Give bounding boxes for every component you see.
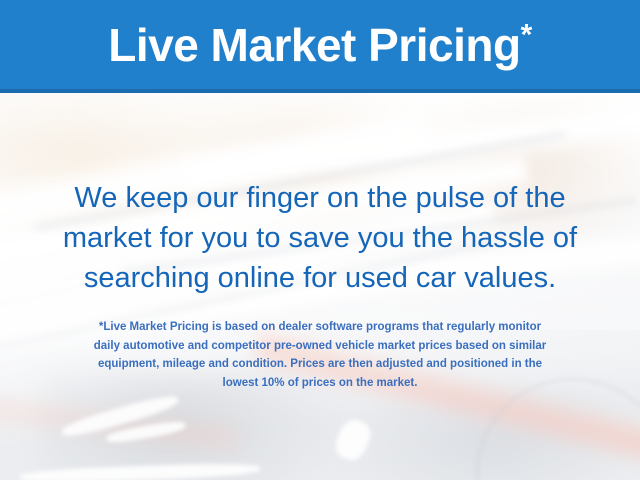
disclaimer-line-4: lowest 10% of prices on the market.	[26, 374, 614, 393]
headline-line-1: We keep our finger on the pulse of the	[24, 178, 616, 218]
page-title-text: Live Market Pricing	[108, 19, 520, 71]
header-banner: Live Market Pricing*	[0, 0, 640, 93]
live-market-pricing-slide: Live Market Pricing* We keep our finger …	[0, 0, 640, 480]
headline-line-3: searching online for used car values.	[24, 258, 616, 298]
disclaimer-text: *Live Market Pricing is based on dealer …	[0, 318, 640, 392]
disclaimer-line-3: equipment, mileage and condition. Prices…	[26, 355, 614, 374]
page-title: Live Market Pricing*	[108, 22, 532, 68]
headline: We keep our finger on the pulse of the m…	[0, 178, 640, 298]
disclaimer-line-1: *Live Market Pricing is based on dealer …	[26, 318, 614, 337]
footnote-marker: *	[521, 18, 532, 51]
disclaimer-line-2: daily automotive and competitor pre-owne…	[26, 337, 614, 356]
headline-line-2: market for you to save you the hassle of	[24, 218, 616, 258]
